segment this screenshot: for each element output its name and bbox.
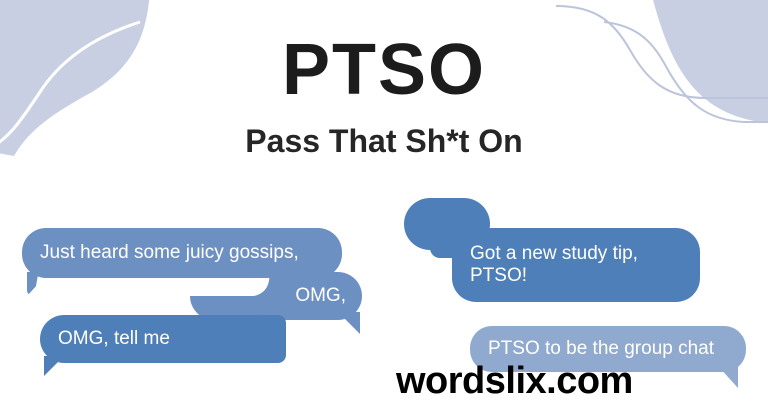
bubble-separator-notch bbox=[34, 276, 270, 296]
poster-canvas: PTSO Pass That Sh*t On OMG, Just heard s… bbox=[0, 0, 768, 414]
page-title: PTSO bbox=[0, 34, 768, 106]
page-subtitle: Pass That Sh*t On bbox=[0, 124, 768, 159]
watermark: wordslix.com bbox=[396, 360, 633, 403]
bubble-study-tip: Got a new study tip, PTSO! bbox=[452, 228, 700, 302]
bubble-tellme: OMG, tell me bbox=[40, 315, 278, 363]
bubble-gossip: Just heard some juicy gossips, bbox=[22, 228, 342, 278]
